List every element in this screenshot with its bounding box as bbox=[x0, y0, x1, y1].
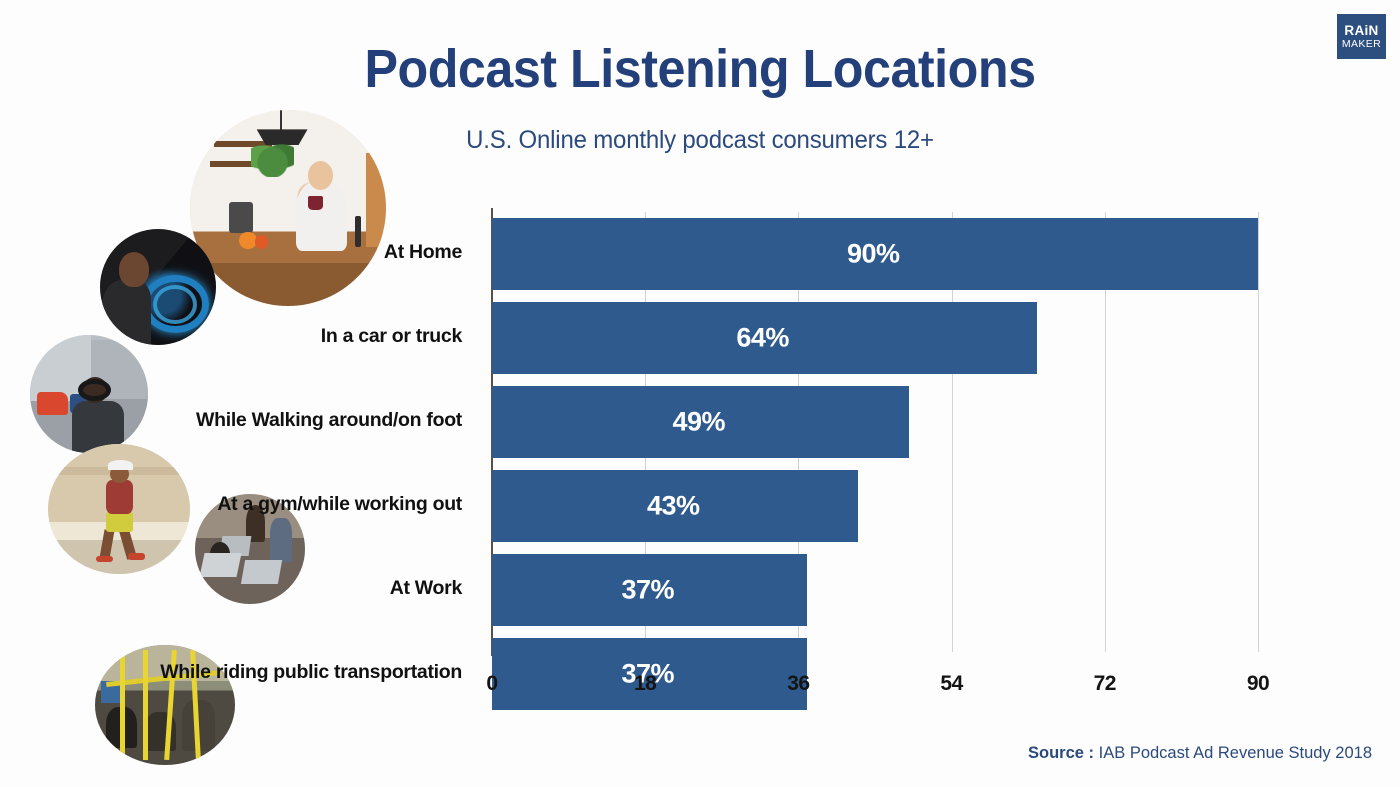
infographic-page: RAiN MAKER Podcast Listening Locations U… bbox=[0, 0, 1400, 787]
x-tick-label: 72 bbox=[1094, 672, 1116, 696]
bar-fill: 64% bbox=[492, 302, 1037, 374]
bar-4[interactable]: 43% bbox=[492, 470, 858, 542]
source-text: IAB Podcast Ad Revenue Study 2018 bbox=[1099, 744, 1372, 762]
bar-chart: 90%At Home64%In a car or truck49%While W… bbox=[0, 0, 1400, 787]
x-tick-label: 90 bbox=[1247, 672, 1269, 696]
category-label: At Work bbox=[0, 577, 478, 600]
bar-5[interactable]: 37% bbox=[492, 554, 807, 626]
x-tick-label: 36 bbox=[787, 672, 809, 696]
source-label: Source : bbox=[1028, 744, 1094, 762]
bar-value-label: 43% bbox=[647, 491, 700, 522]
bar-3[interactable]: 49% bbox=[492, 386, 909, 458]
x-tick-label: 0 bbox=[486, 672, 497, 696]
category-label: While riding public transportation bbox=[0, 661, 478, 684]
category-label: At Home bbox=[0, 241, 478, 264]
bar-value-label: 64% bbox=[736, 323, 789, 354]
bar-value-label: 49% bbox=[673, 407, 726, 438]
category-label: While Walking around/on foot bbox=[0, 409, 478, 432]
x-tick-label: 18 bbox=[634, 672, 656, 696]
bar-fill: 90% bbox=[492, 218, 1258, 290]
bar-fill: 49% bbox=[492, 386, 909, 458]
category-label: At a gym/while working out bbox=[0, 493, 478, 516]
bar-2[interactable]: 64% bbox=[492, 302, 1037, 374]
x-tick-label: 54 bbox=[940, 672, 962, 696]
bar-value-label: 37% bbox=[621, 575, 674, 606]
bar-fill: 37% bbox=[492, 554, 807, 626]
source-note: Source : IAB Podcast Ad Revenue Study 20… bbox=[1028, 744, 1372, 763]
gridline bbox=[1258, 212, 1259, 652]
bar-value-label: 90% bbox=[847, 239, 900, 270]
category-label: In a car or truck bbox=[0, 325, 478, 348]
bar-1[interactable]: 90% bbox=[492, 218, 1258, 290]
bar-fill: 43% bbox=[492, 470, 858, 542]
